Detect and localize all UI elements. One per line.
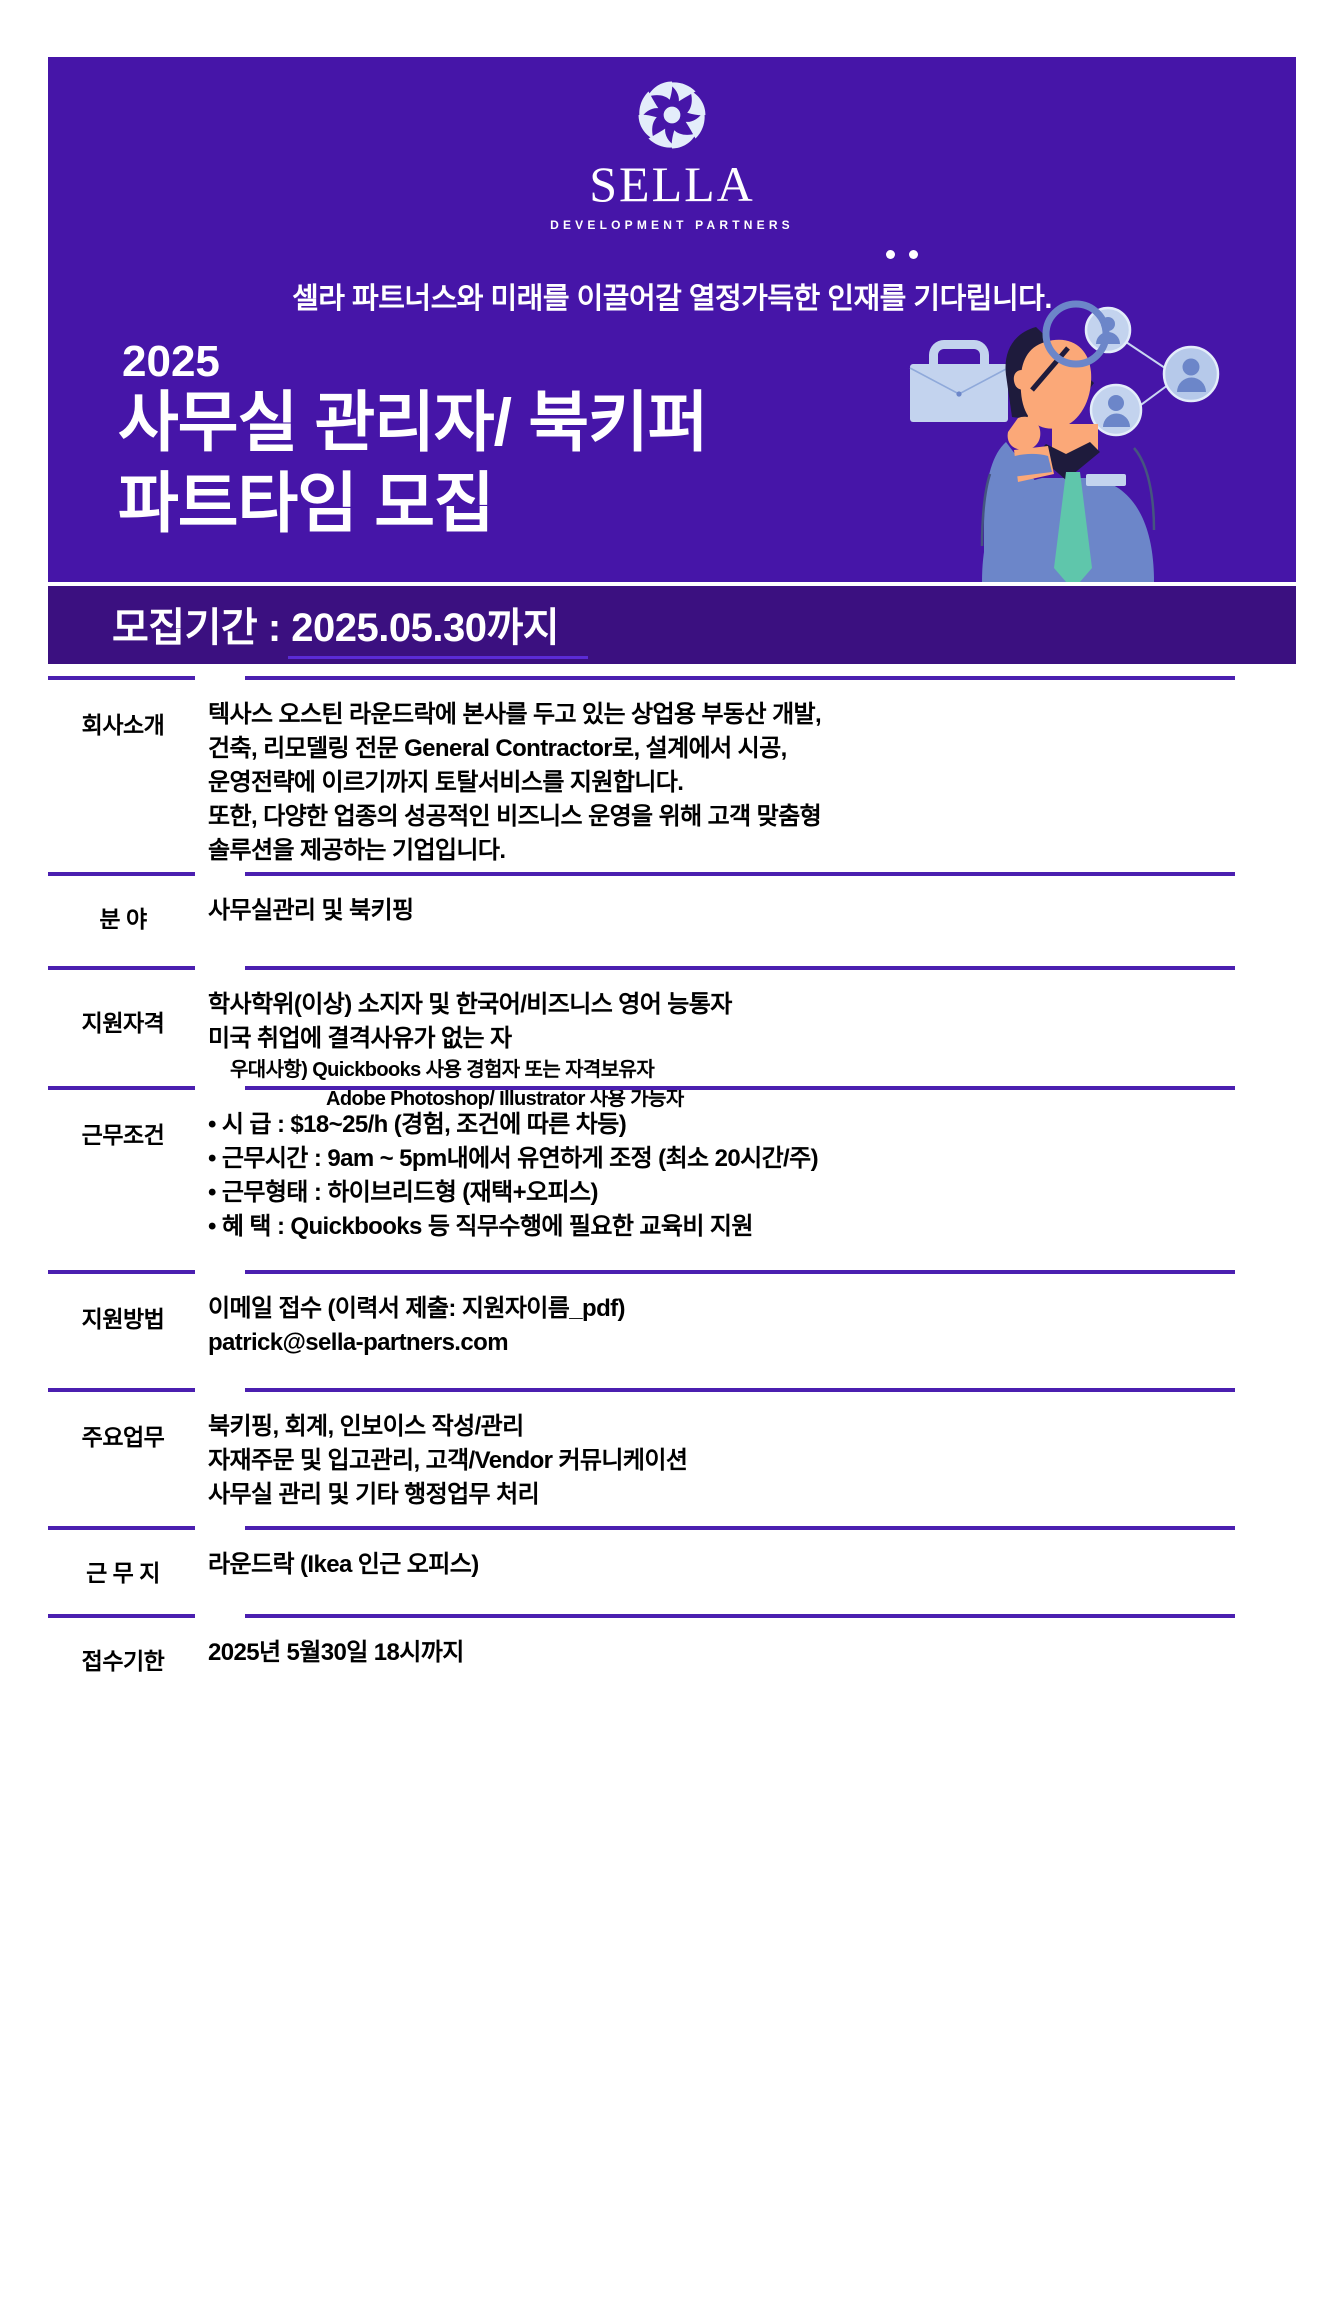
row-content: 텍사스 오스틴 라운드락에 본사를 두고 있는 상업용 부동산 개발,건축, 리… [208, 698, 1268, 868]
row-content: 사무실관리 및 북키핑 [208, 894, 1268, 928]
row-label: 근 무 지 [48, 1554, 198, 1588]
row-content-line: 미국 취업에 결격사유가 없는 자 [208, 1022, 1268, 1056]
recruitment-period-banner: 모집기간 : 2025.05.30까지 [48, 586, 1296, 664]
businessman-illustration [886, 282, 1256, 582]
row-content-line: 북키핑, 회계, 인보이스 작성/관리 [208, 1410, 1268, 1444]
briefcase-icon [910, 340, 1008, 422]
row-content-line: 자재주문 및 입고관리, 고객/Vendor 커뮤니케이션 [208, 1444, 1268, 1478]
row-label: 근무조건 [48, 1116, 198, 1150]
row-rule-content [245, 1086, 1235, 1090]
row-content: 2025년 5월30일 18시까지 [208, 1636, 1268, 1670]
row-content-line: 솔루션을 제공하는 기업입니다. [208, 834, 1268, 868]
row-rule-content [245, 676, 1235, 680]
hero-title-line2: 파트타임 모집 [118, 463, 878, 544]
row-content-line: • 시 급 : $18~25/h (경험, 조건에 따른 차등) [208, 1108, 1268, 1142]
row-content-line: 2025년 5월30일 18시까지 [208, 1636, 1268, 1670]
row-rule-label [48, 872, 195, 876]
row-rule-content [245, 966, 1235, 970]
row-rule-content [245, 1388, 1235, 1392]
row-label: 분 야 [48, 900, 198, 934]
row-rule-label [48, 676, 195, 680]
row-rule-label [48, 1614, 195, 1618]
row-content: • 시 급 : $18~25/h (경험, 조건에 따른 차등)• 근무시간 :… [208, 1108, 1268, 1244]
person-figure [982, 304, 1154, 582]
row-rule-label [48, 1526, 195, 1530]
row-content-line: 운영전략에 이르기까지 토탈서비스를 지원합니다. [208, 766, 1268, 800]
row-content-line: 사무실 관리 및 기타 행정업무 처리 [208, 1478, 1268, 1512]
row-content: 라운드락 (Ikea 인근 오피스) [208, 1548, 1268, 1582]
hero-title: 사무실 관리자/ 북키퍼 파트타임 모집 [118, 382, 878, 543]
hero-header: SELLA DEVELOPMENT PARTNERS 셀라 파트너스와 미래를 … [48, 57, 1296, 582]
brand-subwordmark: DEVELOPMENT PARTNERS [550, 218, 794, 232]
row-rule-label [48, 966, 195, 970]
row-label: 주요업무 [48, 1418, 198, 1452]
row-content: 이메일 접수 (이력서 제출: 지원자이름_pdf)patrick@sella-… [208, 1292, 1268, 1360]
row-content: 학사학위(이상) 소지자 및 한국어/비즈니스 영어 능통자미국 취업에 결격사… [208, 988, 1268, 1113]
brand-wordmark: SELLA [589, 159, 755, 209]
recruitment-period-text: 모집기간 : 2025.05.30까지 [112, 595, 559, 653]
row-label: 지원자격 [48, 1004, 198, 1038]
row-label: 지원방법 [48, 1300, 198, 1334]
row-label: 회사소개 [48, 706, 198, 740]
row-content-line: 학사학위(이상) 소지자 및 한국어/비즈니스 영어 능통자 [208, 988, 1268, 1022]
hero-title-line1: 사무실 관리자/ 북키퍼 [118, 382, 878, 463]
row-content-line: patrick@sella-partners.com [208, 1326, 1268, 1360]
row-rule-content [245, 1270, 1235, 1274]
row-rule-content [245, 872, 1235, 876]
row-content-line: 이메일 접수 (이력서 제출: 지원자이름_pdf) [208, 1292, 1268, 1326]
row-rule-label [48, 1086, 195, 1090]
row-label: 접수기한 [48, 1642, 198, 1676]
row-rule-content [245, 1614, 1235, 1618]
row-content-line: • 근무형태 : 하이브리드형 (재택+오피스) [208, 1176, 1268, 1210]
row-content: 북키핑, 회계, 인보이스 작성/관리자재주문 및 입고관리, 고객/Vendo… [208, 1410, 1268, 1512]
pinwheel-logo-icon [634, 77, 710, 153]
hero-year: 2025 [122, 337, 220, 387]
row-rule-label [48, 1388, 195, 1392]
row-content-line: 우대사항) Quickbooks 사용 경험자 또는 자격보유자 [208, 1056, 1268, 1084]
row-content-line: 사무실관리 및 북키핑 [208, 894, 1268, 928]
row-content-line: 텍사스 오스틴 라운드락에 본사를 두고 있는 상업용 부동산 개발, [208, 698, 1268, 732]
row-content-line: 라운드락 (Ikea 인근 오피스) [208, 1548, 1268, 1582]
row-rule-content [245, 1526, 1235, 1530]
period-underline [288, 656, 588, 659]
brand-logo-block: SELLA DEVELOPMENT PARTNERS [48, 77, 1296, 232]
row-content-line: 건축, 리모델링 전문 General Contractor로, 설계에서 시공… [208, 732, 1268, 766]
row-content-line: • 근무시간 : 9am ~ 5pm내에서 유연하게 조정 (최소 20시간/주… [208, 1142, 1268, 1176]
row-content-line: • 혜 택 : Quickbooks 등 직무수행에 필요한 교육비 지원 [208, 1210, 1268, 1244]
decorative-dots [886, 250, 918, 259]
row-content-line: 또한, 다양한 업종의 성공적인 비즈니스 운영을 위해 고객 맞춤형 [208, 800, 1268, 834]
row-rule-label [48, 1270, 195, 1274]
